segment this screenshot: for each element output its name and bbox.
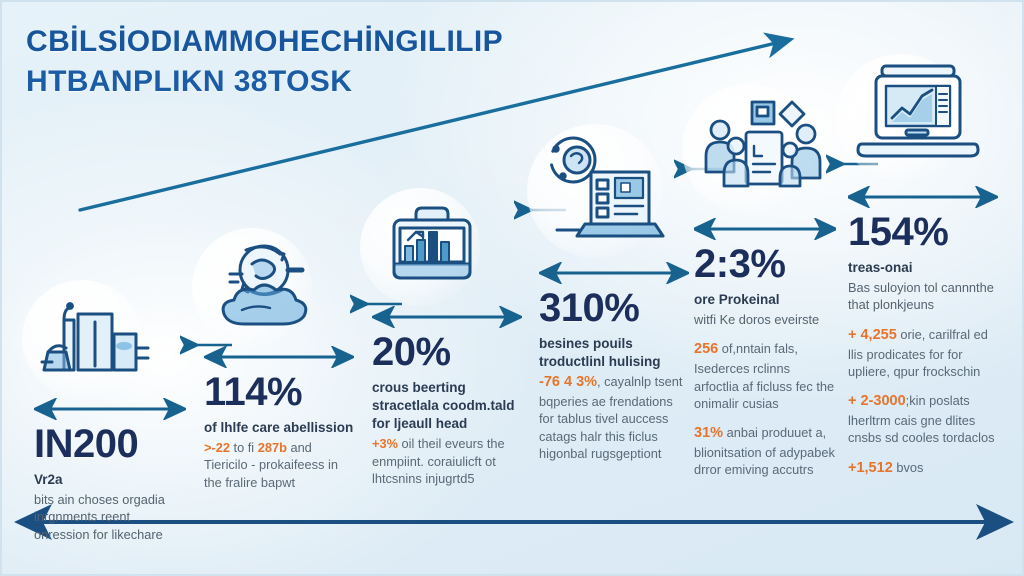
- column-2-span-arrow: [204, 346, 354, 368]
- stat-column-2: 114% of lhlfe care abellission >-22 to f…: [204, 238, 354, 503]
- column-3-span-arrow: [372, 306, 522, 328]
- stat-value-4: 310%: [539, 288, 689, 328]
- title-line-1: CBİLSİODIAMMOHECHİNGILILIP: [26, 22, 646, 62]
- stat-lead-2: of lhlfe care abellission: [204, 419, 354, 437]
- stat-note-6-a-highlight: + 4,255: [848, 327, 897, 343]
- stat-value-1: IN200: [34, 424, 186, 464]
- column-6-span-arrow: [848, 186, 998, 208]
- stat-note-6-c-text: bvos: [893, 460, 924, 475]
- stat-value-2: 114%: [204, 372, 354, 412]
- stat-column-1: IN200 Vr2a bits ain choses orgadia inrgn…: [34, 290, 186, 555]
- stat-lead-6: treas-onai: [848, 259, 998, 277]
- team-report-icon: [694, 94, 826, 214]
- monitor-document-search-icon: [539, 130, 671, 258]
- stat-note-2-highlight2: 287b: [258, 440, 287, 455]
- stat-note-3: +3% oil theil eveurs the enmpiint. corai…: [372, 435, 522, 487]
- stat-column-3: 20% crous beerting stracetlala coodm.tal…: [372, 198, 522, 499]
- stat-lead-4: besines pouils troductlinl hulising: [539, 335, 689, 371]
- stat-note-4-highlight: -76 4 3%: [539, 374, 597, 390]
- stat-lead-3: crous beerting stracetlala coodm.tald fo…: [372, 379, 522, 433]
- stat-note-3-highlight: +3%: [372, 436, 398, 451]
- stat-value-6: 154%: [848, 212, 998, 252]
- stat-sub-1: bits ain choses orgadia inrgnments reent…: [34, 491, 186, 543]
- stat-note-5-b-highlight: 31%: [694, 425, 723, 441]
- stat-note-5-b: 31% anbai produuet a, blionitsation of a…: [694, 424, 836, 479]
- factory-industry-icon: [34, 290, 166, 394]
- column-1-span-arrow: [34, 398, 186, 420]
- title-line-2: HTBANPLIKN 38TOSK: [26, 62, 646, 102]
- stat-note-6-b: + 2-3000;kin poslats lherltrm cais gne d…: [848, 392, 998, 447]
- stat-note-5-a: 256 of,nntain fals, Isederces rclinns ar…: [694, 340, 836, 412]
- laptop-line-chart-icon: [848, 64, 980, 182]
- column-4-span-arrow: [539, 262, 689, 284]
- stat-note-6-c: +1,512 bvos: [848, 459, 998, 479]
- stat-lead-1: Vr2a: [34, 471, 186, 489]
- briefcase-bar-chart-icon: [372, 198, 504, 302]
- stat-column-5: 2:3% ore Prokeinal witfi Ke doros eveirs…: [694, 94, 836, 491]
- stat-value-5: 2:3%: [694, 244, 836, 284]
- stat-note-2-mid: to fi: [230, 440, 258, 455]
- stat-column-6: 154% treas-onai Bas suloyion tol cannnth…: [848, 64, 998, 491]
- globe-recycle-cloud-icon: [204, 238, 336, 342]
- stat-note-4: -76 4 3%, cayalnlp tsent bqperies ae fre…: [539, 373, 689, 462]
- infographic-canvas: CBİLSİODIAMMOHECHİNGILILIP HTBANPLIKN 38…: [0, 0, 1024, 576]
- stat-note-2-highlight: >-22: [204, 440, 230, 455]
- stat-sub-5: witfi Ke doros eveirste: [694, 311, 836, 328]
- stat-lead-5: ore Prokeinal: [694, 291, 836, 309]
- column-5-span-arrow: [694, 218, 836, 240]
- stat-note-6-a: + 4,255 orie, carilfral ed llis prodicat…: [848, 326, 998, 381]
- stat-note-6-c-highlight: +1,512: [848, 460, 893, 476]
- stat-note-6-b-highlight: + 2-3000: [848, 393, 906, 409]
- stat-note-2: >-22 to fi 287b and Tiericilo - prokaife…: [204, 439, 354, 491]
- stat-value-3: 20%: [372, 332, 522, 372]
- stat-note-5-a-highlight: 256: [694, 341, 718, 357]
- page-title: CBİLSİODIAMMOHECHİNGILILIP HTBANPLIKN 38…: [26, 22, 646, 102]
- stat-sub-6: Bas suloyion tol cannnthe that plonkjeun…: [848, 279, 998, 314]
- stat-column-4: 310% besines pouils troductlinl hulising…: [539, 130, 689, 474]
